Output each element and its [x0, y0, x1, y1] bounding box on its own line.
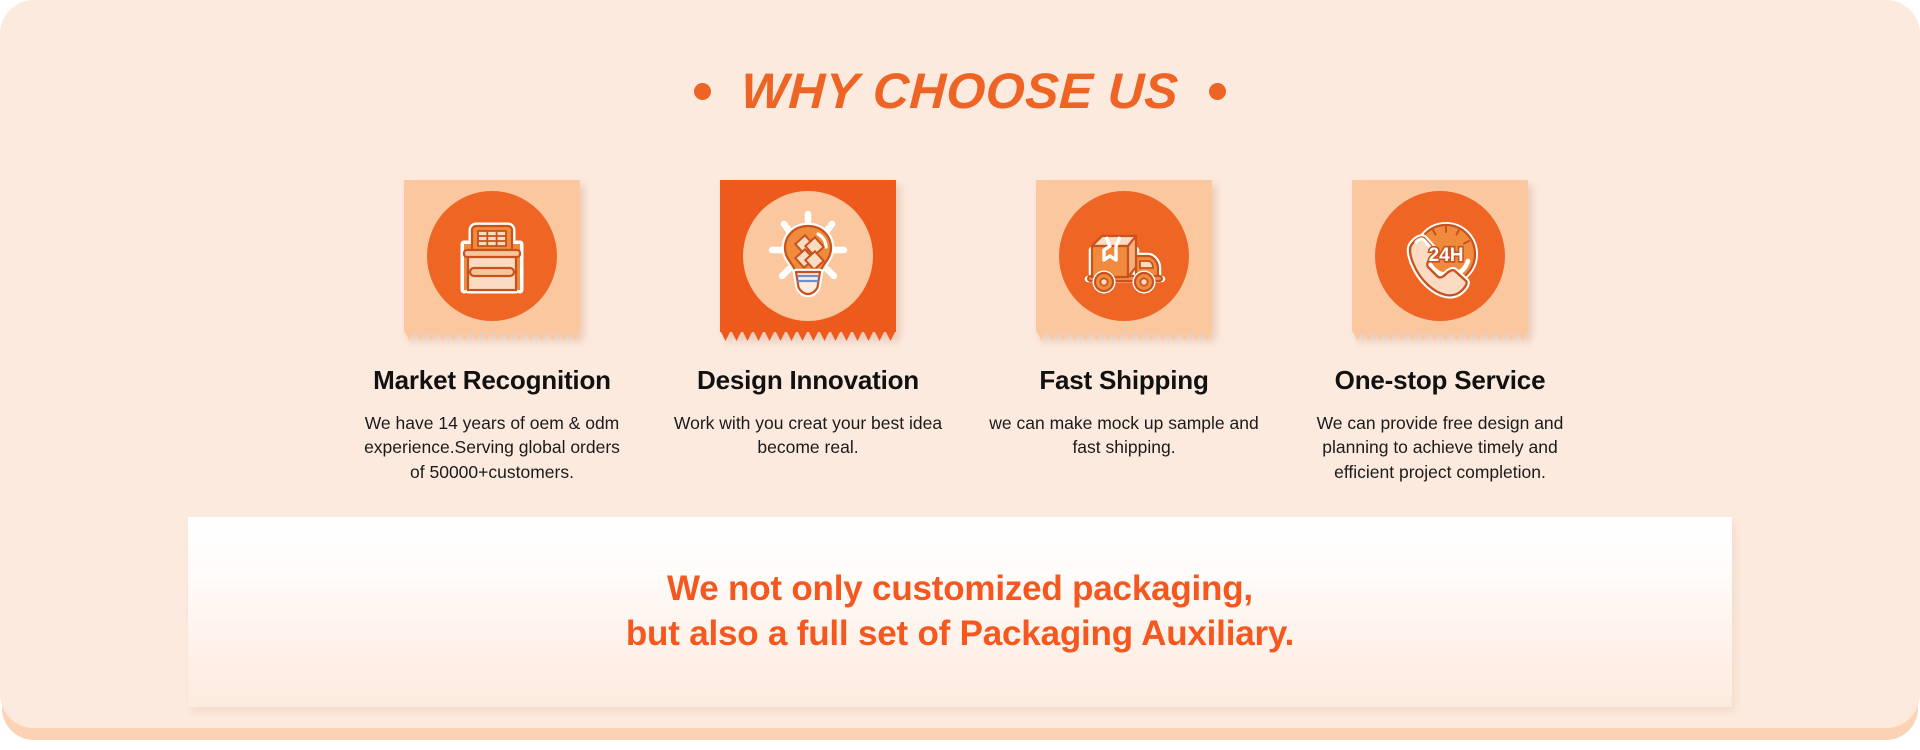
- stamp-sawtooth-edge: [404, 330, 580, 342]
- page-title: WHY CHOOSE US: [740, 66, 1180, 116]
- feature-description: We have 14 years of oem & odm experience…: [356, 411, 628, 486]
- feature-description: We can provide free design and planning …: [1304, 411, 1576, 486]
- feature-description: Work with you creat your best idea becom…: [672, 411, 944, 461]
- stamp-tile: [1036, 180, 1212, 342]
- delivery-truck-icon: [1074, 206, 1174, 306]
- badge-24h-text: 24H: [1429, 245, 1464, 266]
- feature-title: Market Recognition: [373, 366, 611, 395]
- stamp-sawtooth-edge: [720, 330, 896, 342]
- stamp-tile: [720, 180, 896, 342]
- feature-title: Fast Shipping: [1039, 366, 1208, 395]
- page-root: WHY CHOOSE US: [0, 0, 1920, 750]
- feature-card-market-recognition[interactable]: Market Recognition We have 14 years of o…: [386, 180, 598, 485]
- lightbulb-idea-icon: [758, 206, 858, 306]
- promo-banner-line-2: but also a full set of Packaging Auxilia…: [626, 612, 1294, 657]
- stamp-sawtooth-edge: [1352, 330, 1528, 342]
- stamp-sawtooth-edge: [1036, 330, 1212, 342]
- stamp-tile: 24H: [1352, 180, 1528, 342]
- feature-description: we can make mock up sample and fast ship…: [988, 411, 1260, 461]
- feature-title: One-stop Service: [1335, 366, 1546, 395]
- promo-banner: We not only customized packaging, but al…: [188, 517, 1732, 707]
- feature-title: Design Innovation: [697, 366, 919, 395]
- feature-card-list: Market Recognition We have 14 years of o…: [386, 180, 1546, 485]
- heading-dot-right: [1209, 83, 1226, 100]
- stamp-tile: [404, 180, 580, 342]
- section-heading: WHY CHOOSE US: [0, 66, 1920, 116]
- feature-card-design-innovation[interactable]: Design Innovation Work with you creat yo…: [702, 180, 914, 485]
- factory-icon: [442, 206, 542, 306]
- feature-card-one-stop-service[interactable]: 24H One-stop Service We can provide free…: [1334, 180, 1546, 485]
- phone-24h-support-icon: 24H: [1390, 206, 1490, 306]
- feature-card-fast-shipping[interactable]: Fast Shipping we can make mock up sample…: [1018, 180, 1230, 485]
- heading-dot-left: [694, 83, 711, 100]
- promo-banner-line-1: We not only customized packaging,: [667, 567, 1253, 612]
